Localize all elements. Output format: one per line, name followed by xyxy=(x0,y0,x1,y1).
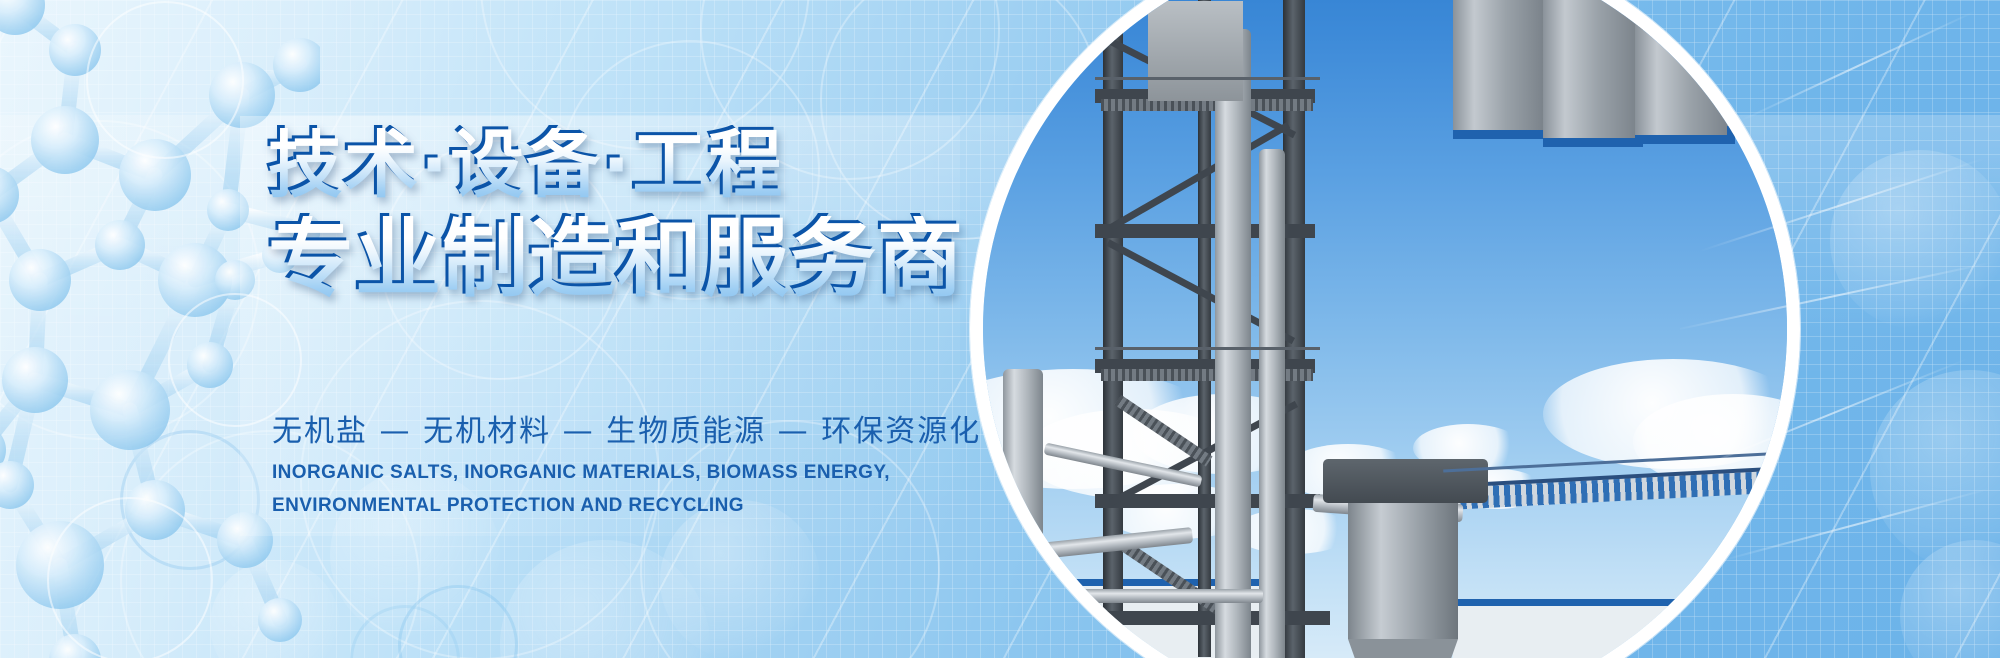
hopper-top-duct xyxy=(1323,459,1488,503)
molecule-structure-graphic xyxy=(0,0,320,658)
subtitle-chinese: 无机盐 — 无机材料 — 生物质能源 — 环保资源化 xyxy=(272,406,981,450)
process-pipe xyxy=(983,589,1263,603)
process-column xyxy=(1259,149,1285,658)
storage-silo xyxy=(1727,0,1787,135)
circular-photo-frame xyxy=(970,0,1800,658)
headline-line-2: 专业制造和服务商 xyxy=(268,216,1028,302)
headline-line-1: 技术·设备·工程 xyxy=(268,128,1028,202)
hopper-vessel xyxy=(1348,499,1458,639)
plant-building xyxy=(1453,599,1783,658)
subtitle-english: INORGANIC SALTS, INORGANIC MATERIALS, BI… xyxy=(272,456,942,523)
headline-block: 技术·设备·工程 专业制造和服务商 xyxy=(268,128,1028,302)
storage-silo xyxy=(1635,0,1735,144)
upper-equipment xyxy=(1148,1,1243,101)
industrial-plant-photo xyxy=(983,0,1787,658)
process-vessel xyxy=(1003,369,1043,658)
process-column xyxy=(1215,29,1251,658)
hero-banner: 技术·设备·工程 专业制造和服务商 无机盐 — 无机材料 — 生物质能源 — 环… xyxy=(0,0,2000,658)
handrail xyxy=(1095,347,1320,350)
storage-silo xyxy=(1453,0,1549,139)
handrail xyxy=(1095,77,1320,80)
storage-silo xyxy=(1543,0,1643,147)
hopper-cone xyxy=(1348,639,1458,658)
